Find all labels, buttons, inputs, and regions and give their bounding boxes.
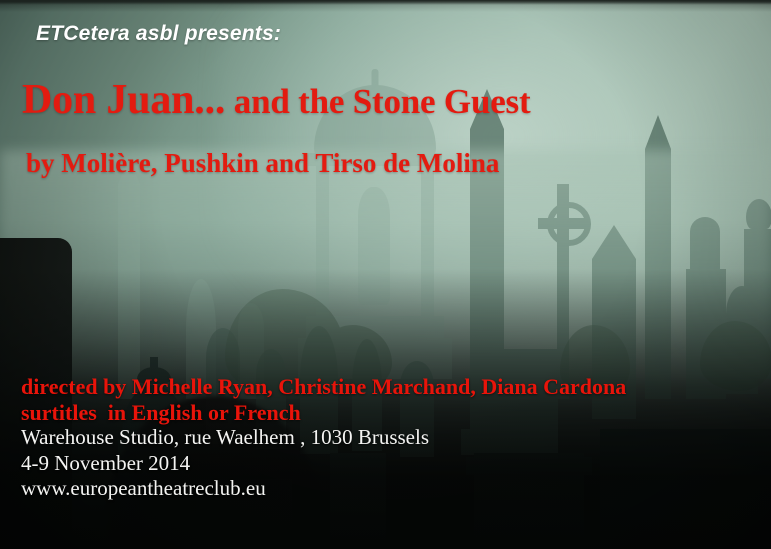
credits-block: directed by Michelle Ryan, Christine Mar… [21, 374, 626, 502]
credit-venue: Warehouse Studio, rue Waelhem , 1030 Bru… [21, 425, 626, 451]
credit-dates: 4-9 November 2014 [21, 451, 626, 477]
credit-website: www.europeantheatreclub.eu [21, 476, 626, 502]
poster: ETCetera asbl presents: Don Juan... and … [0, 0, 771, 549]
presenter-line: ETCetera asbl presents: [36, 22, 281, 46]
title-rest: and the Stone Guest [225, 82, 530, 121]
poster-title: Don Juan... and the Stone Guest [22, 76, 530, 124]
credit-surtitles: surtitles in English or French [21, 400, 626, 426]
credit-directed-by: directed by Michelle Ryan, Christine Mar… [21, 374, 626, 400]
title-main: Don Juan... [22, 77, 225, 123]
authors-byline: by Molière, Pushkin and Tirso de Molina [26, 148, 499, 179]
poster-text-layer: ETCetera asbl presents: Don Juan... and … [0, 0, 771, 549]
